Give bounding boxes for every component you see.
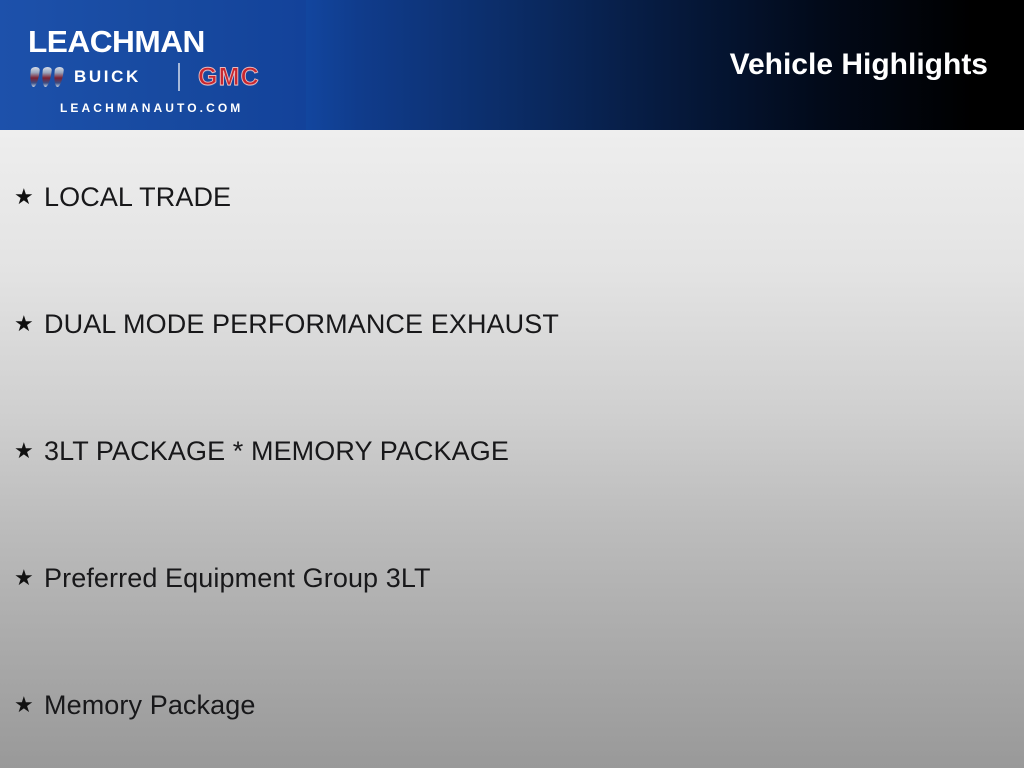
buick-shield-icon-1 bbox=[29, 67, 40, 87]
highlight-label: DUAL MODE PERFORMANCE EXHAUST bbox=[44, 306, 559, 342]
brand-divider bbox=[178, 63, 180, 91]
page-title: Vehicle Highlights bbox=[730, 47, 988, 83]
list-item: ★ Memory Package bbox=[14, 687, 255, 723]
highlight-label: Memory Package bbox=[44, 687, 255, 723]
star-icon: ★ bbox=[14, 179, 44, 215]
buick-shield-icon-3 bbox=[53, 67, 64, 87]
highlight-label: 3LT PACKAGE * MEMORY PACKAGE bbox=[44, 433, 509, 469]
dealer-wordmark: Leachman bbox=[28, 14, 291, 62]
list-item: ★ DUAL MODE PERFORMANCE EXHAUST bbox=[14, 306, 559, 342]
star-icon: ★ bbox=[14, 687, 44, 723]
dealer-website-label: LEACHMANAUTO.COM bbox=[60, 100, 243, 116]
slide-body: ★ LOCAL TRADE ★ DUAL MODE PERFORMANCE EX… bbox=[0, 130, 1024, 768]
star-icon: ★ bbox=[14, 560, 44, 596]
list-item: ★ 3LT PACKAGE * MEMORY PACKAGE bbox=[14, 433, 509, 469]
gmc-brand-label: GMC bbox=[198, 63, 260, 91]
list-item: ★ Preferred Equipment Group 3LT bbox=[14, 560, 431, 596]
star-icon: ★ bbox=[14, 433, 44, 469]
buick-shield-icon-2 bbox=[41, 67, 52, 87]
brand-row: BUICK GMC bbox=[28, 63, 290, 93]
buick-trishield-icon bbox=[30, 67, 64, 87]
highlight-label: Preferred Equipment Group 3LT bbox=[44, 560, 431, 596]
vehicle-highlights-slide: Leachman BUICK GMC LEACHMANAUTO.COM Vehi… bbox=[0, 0, 1024, 768]
dealer-logo[interactable]: Leachman BUICK GMC LEACHMANAUTO.COM bbox=[0, 0, 306, 130]
highlight-label: LOCAL TRADE bbox=[44, 179, 231, 215]
slide-header: Leachman BUICK GMC LEACHMANAUTO.COM Vehi… bbox=[0, 0, 1024, 130]
star-icon: ★ bbox=[14, 306, 44, 342]
buick-brand-label: BUICK bbox=[74, 67, 141, 87]
list-item: ★ LOCAL TRADE bbox=[14, 179, 231, 215]
